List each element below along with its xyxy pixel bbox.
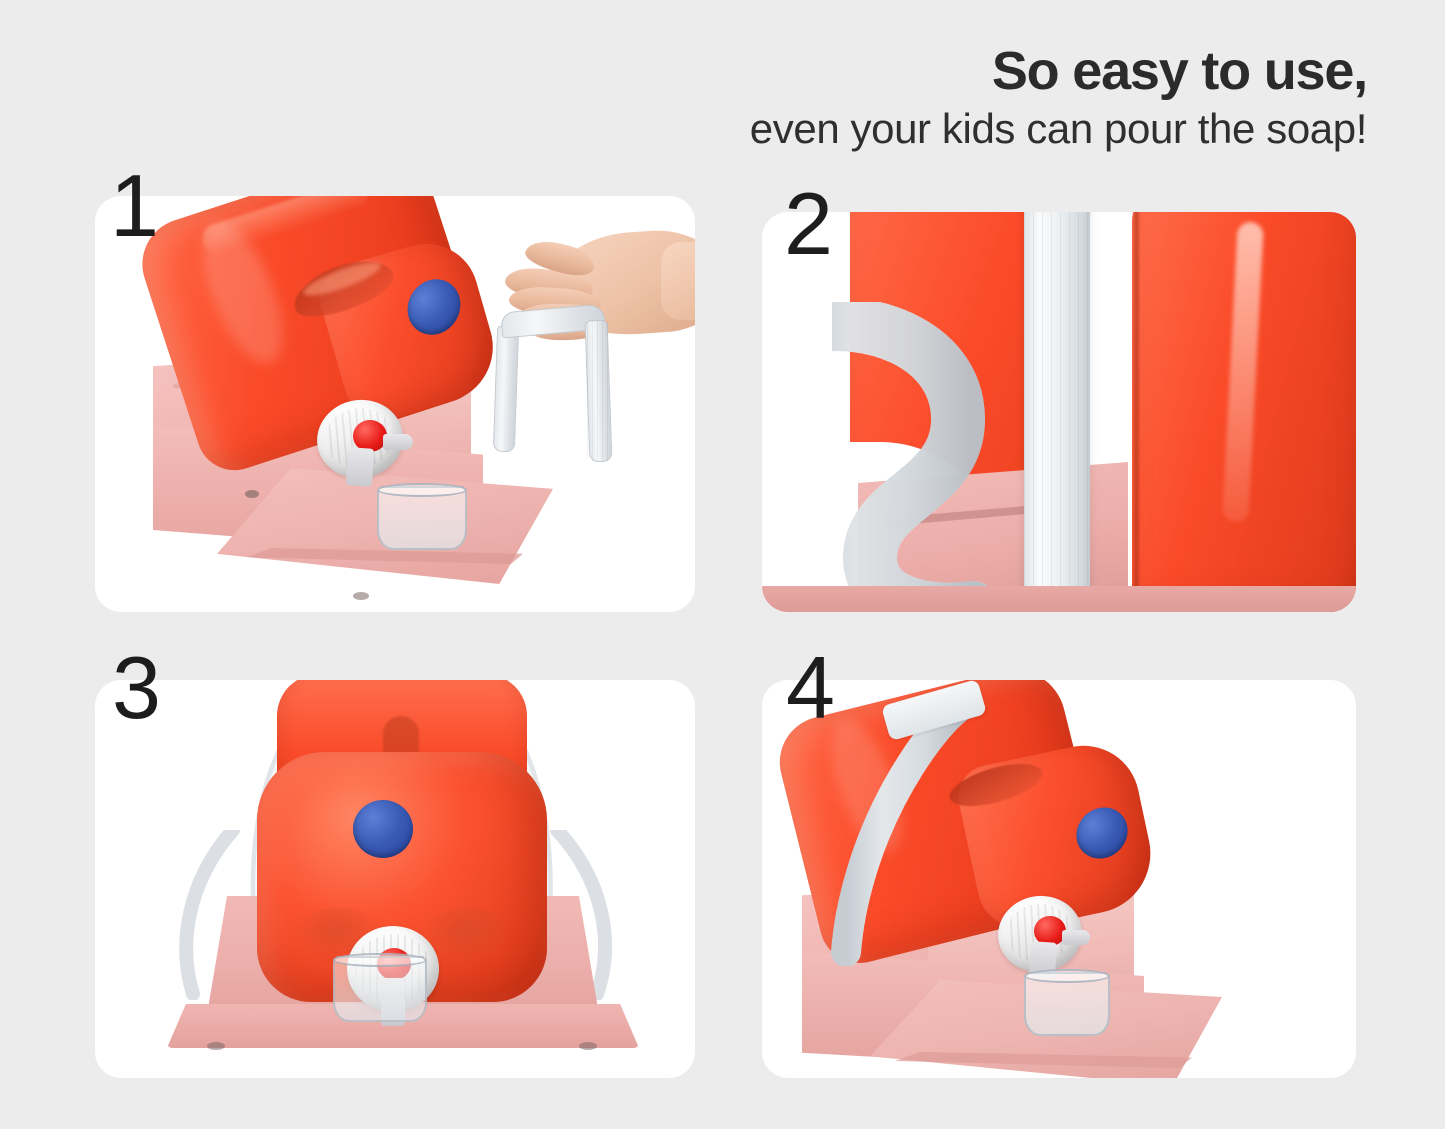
step-panel-3 [95, 680, 695, 1078]
caddy-foot-step3-left [207, 1042, 225, 1050]
headline-secondary: even your kids can pour the soap! [467, 108, 1367, 150]
strap-ribbing [587, 320, 610, 462]
jug-closeup-seam [1134, 212, 1139, 612]
step-2-illustration [762, 212, 1356, 612]
step-number-1: 1 [110, 162, 159, 250]
strap-s-curve-svg [832, 302, 1032, 612]
clear-measuring-cup-step4 [1024, 972, 1110, 1036]
blue-cap-step3 [353, 800, 413, 858]
strap-s-curve [832, 302, 1032, 612]
strap-left-leg [493, 326, 519, 453]
step-number-2: 2 [784, 180, 833, 268]
strap-vertical-ribs [1024, 212, 1090, 594]
strap-over-jug-svg [812, 704, 992, 966]
step-4-illustration [762, 680, 1356, 1078]
hand-wrist [661, 242, 695, 320]
step-1-illustration [95, 196, 695, 612]
spout-nozzle [383, 434, 413, 450]
spout-lever [346, 447, 375, 487]
step-number-3: 3 [112, 644, 161, 732]
caddy-foot-step3-right [579, 1042, 597, 1050]
step-panel-1 [95, 196, 695, 612]
strap-over-jug-step4 [812, 704, 992, 966]
caddy-foot-left [245, 490, 259, 498]
step-panel-4 [762, 680, 1356, 1078]
u-shaped-strap [491, 292, 617, 452]
headline-primary: So easy to use, [467, 44, 1367, 98]
headline-block: So easy to use, even your kids can pour … [467, 44, 1367, 150]
spout-nozzle-step4 [1062, 930, 1090, 945]
step-panel-2 [762, 212, 1356, 612]
step-number-4: 4 [786, 644, 835, 732]
infographic-root: So easy to use, even your kids can pour … [0, 0, 1445, 1129]
clear-measuring-cup [377, 486, 467, 550]
step-3-illustration [95, 680, 695, 1078]
caddy-base-strip-closeup [762, 586, 1356, 612]
caddy-foot-right [353, 592, 369, 600]
clear-measuring-cup-step3 [333, 956, 427, 1022]
